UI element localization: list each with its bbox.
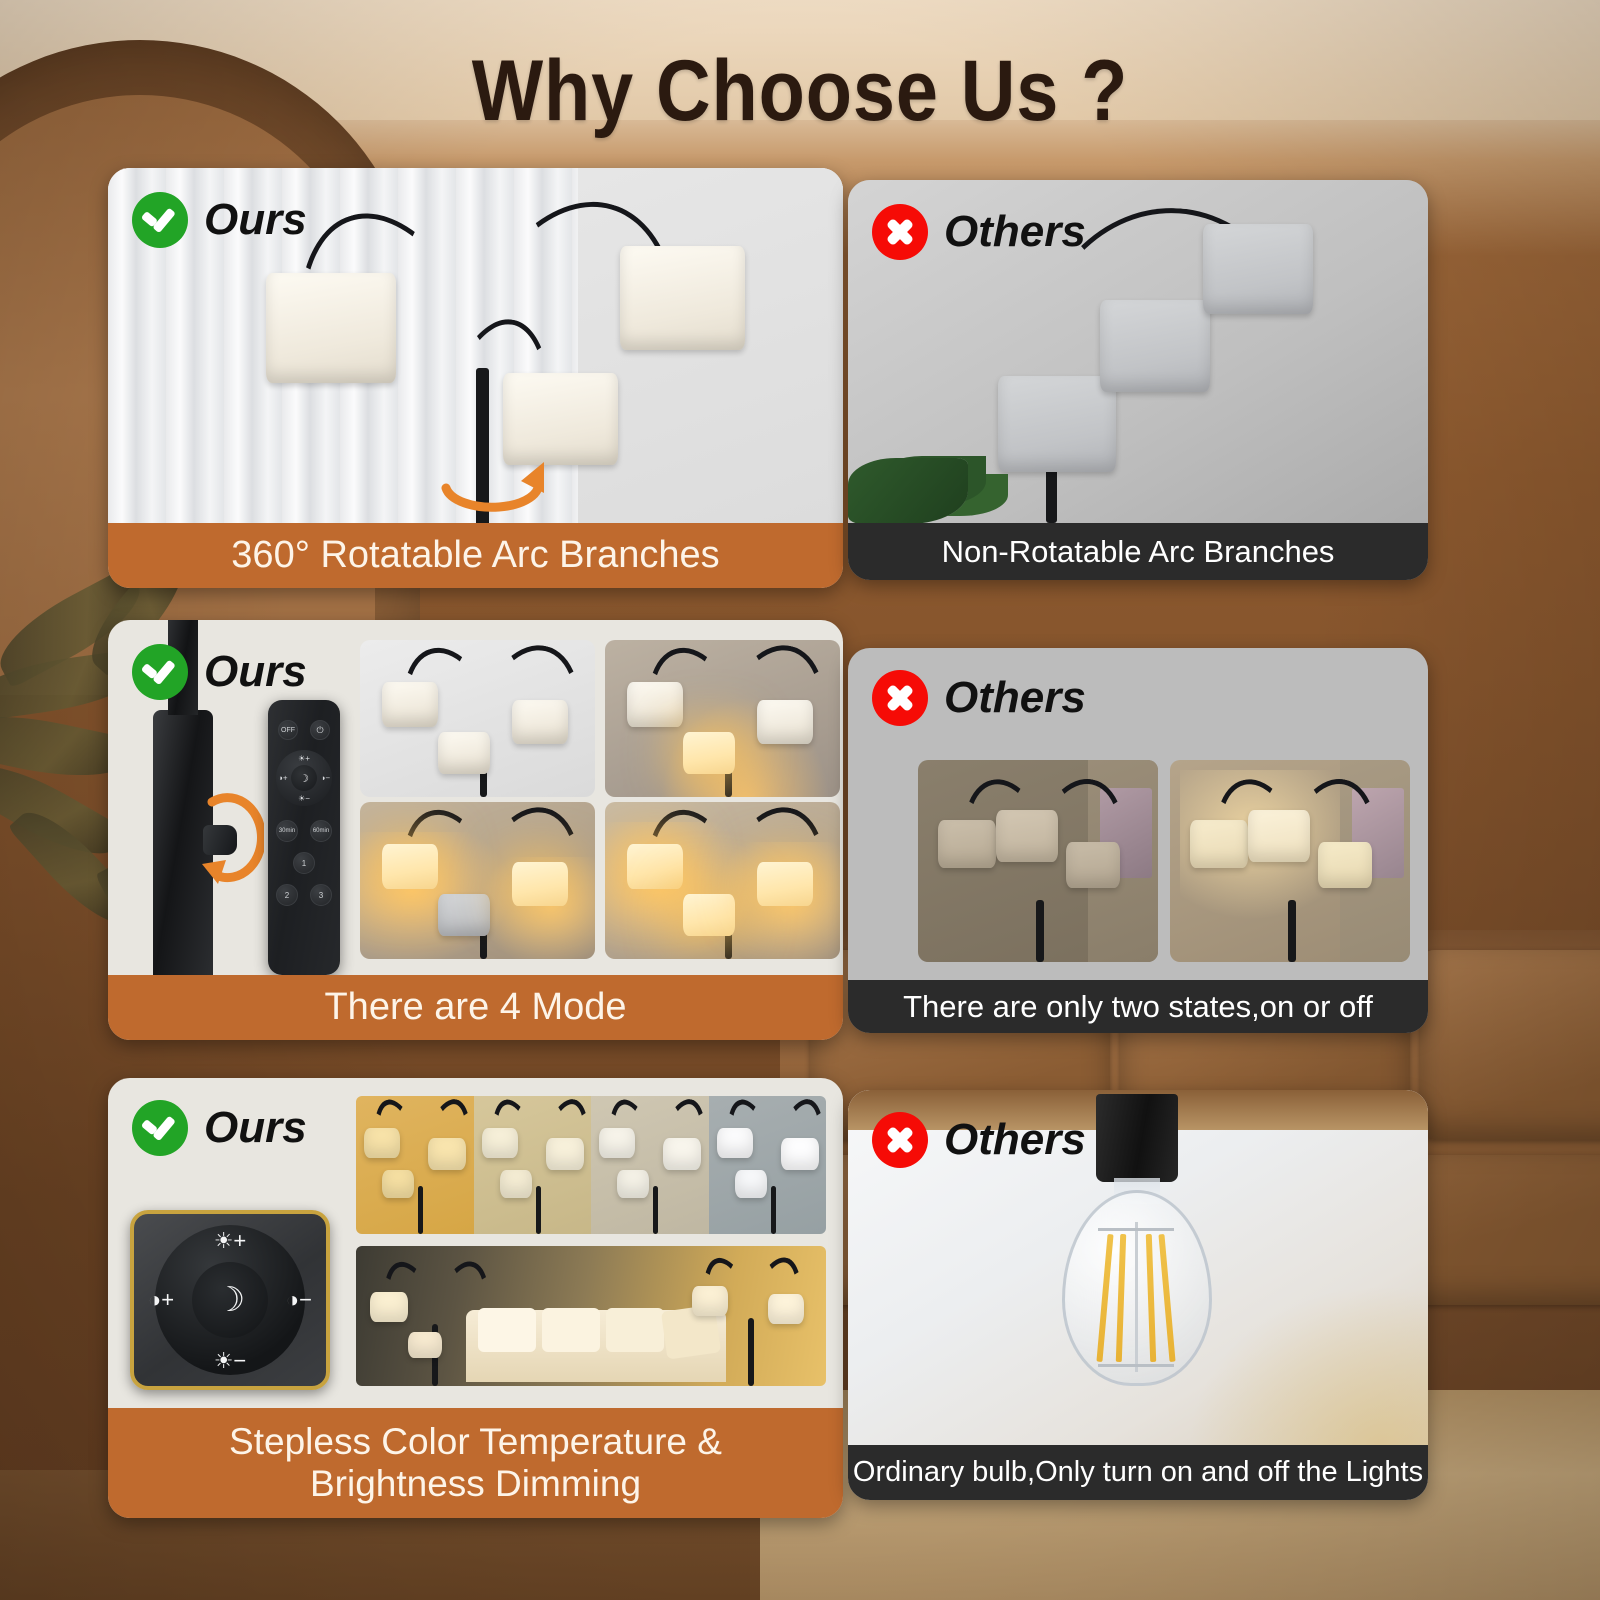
color-warm-control[interactable]: ◑+	[148, 1287, 174, 1313]
bulb-socket	[1096, 1094, 1178, 1182]
dimmer-ring[interactable]: ☀+ ◑+ ◑− ☀− ☽	[276, 750, 332, 806]
caption-text: Non-Rotatable Arc Branches	[942, 535, 1335, 568]
dimmer-control-pad[interactable]: ☀+ ◑+ ◑− ☀− ☽	[130, 1210, 330, 1390]
green-check-icon	[132, 192, 188, 248]
badge-ours-modes: Ours	[132, 644, 307, 700]
light-1-button[interactable]: 1	[293, 852, 315, 874]
badge-label: Others	[944, 673, 1086, 723]
timer-60min-button[interactable]: 60min	[310, 820, 332, 842]
filament-stem	[1135, 1222, 1138, 1372]
night-light-control[interactable]: ☽	[192, 1262, 268, 1338]
mode-two-lights	[360, 802, 595, 959]
color-cool-button[interactable]: ◑−	[320, 774, 330, 783]
red-cross-icon	[872, 670, 928, 726]
brightness-down-control[interactable]: ☀−	[214, 1348, 247, 1374]
color-temperature-strip	[356, 1096, 826, 1234]
badge-label: Ours	[204, 647, 307, 697]
caption-others-rotation: Non-Rotatable Arc Branches	[848, 523, 1428, 580]
night-mode-button[interactable]: ☽	[291, 765, 317, 791]
rotation-arrow-icon	[426, 448, 556, 523]
light-3-button[interactable]: 3	[310, 884, 332, 906]
caption-ours-modes: There are 4 Mode	[108, 975, 843, 1040]
caption-ours-dimming: Stepless Color Temperature & Brightness …	[108, 1408, 843, 1518]
ct-soft-3500k	[474, 1096, 592, 1234]
color-cool-control[interactable]: ◑−	[286, 1287, 312, 1313]
card-ours-dimming: ☀+ ◑+ ◑− ☀− ☽	[108, 1078, 843, 1518]
caption-line-2: Brightness Dimming	[310, 1464, 641, 1504]
brightness-up-control[interactable]: ☀+	[214, 1228, 247, 1254]
brightness-up-button[interactable]: ☀+	[298, 754, 310, 763]
timing-button[interactable]: OFF	[278, 720, 298, 740]
card-others-rotation: Non-Rotatable Arc Branches Others	[848, 180, 1428, 580]
caption-text: There are 4 Mode	[324, 987, 626, 1028]
state-off	[918, 760, 1158, 962]
mode-three-lights	[605, 802, 840, 959]
lamp-shade-low	[998, 376, 1116, 472]
lamp-shade-high	[1203, 224, 1313, 314]
red-cross-icon	[872, 1112, 928, 1168]
red-cross-icon	[872, 204, 928, 260]
power-button-label: ⏻	[316, 725, 323, 736]
badge-label: Others	[944, 1115, 1086, 1165]
lamp-shade-mid	[1100, 300, 1210, 392]
badge-label: Ours	[204, 195, 307, 245]
rotation-arrow-icon	[200, 788, 264, 894]
ct-warm-2700k	[356, 1096, 474, 1234]
green-check-icon	[132, 644, 188, 700]
light-2-button[interactable]: 2	[276, 884, 298, 906]
ct-neutral-4500k	[591, 1096, 709, 1234]
mode-all-off	[360, 640, 595, 797]
mode-one-light	[605, 640, 840, 797]
timer-30min-button[interactable]: 30min	[276, 820, 298, 842]
caption-others-modes: There are only two states,on or off	[848, 980, 1428, 1033]
ct-cool-6000k	[709, 1096, 827, 1234]
caption-line-1: Stepless Color Temperature &	[229, 1422, 722, 1462]
filament-bridge-top	[1098, 1228, 1174, 1231]
badge-others-modes: Others	[872, 670, 1086, 726]
badge-others-bulb: Others	[872, 1112, 1086, 1168]
caption-text: 360° Rotatable Arc Branches	[231, 535, 719, 576]
lamp-shade-right	[620, 246, 745, 350]
card-ours-modes: OFF ⏻ ☀+ ◑+ ◑− ☀− ☽	[108, 620, 843, 1040]
caption-text: Ordinary bulb,Only turn on and off the L…	[853, 1457, 1423, 1488]
caption-others-bulb: Ordinary bulb,Only turn on and off the L…	[848, 1445, 1428, 1500]
badge-ours-rotation: Ours	[132, 192, 307, 248]
lamp-shade-left	[266, 273, 396, 383]
badge-others-rotation: Others	[872, 204, 1086, 260]
remote-control[interactable]: OFF ⏻ ☀+ ◑+ ◑− ☀− ☽	[268, 700, 340, 975]
state-on	[1170, 760, 1410, 962]
caption-text: There are only two states,on or off	[903, 990, 1373, 1023]
card-others-bulb: Ordinary bulb,Only turn on and off the L…	[848, 1090, 1428, 1500]
living-room-preview	[356, 1246, 826, 1386]
page-title: Why Choose Us ?	[96, 42, 1504, 141]
caption-ours-rotation: 360° Rotatable Arc Branches	[108, 523, 843, 588]
card-others-modes: There are only two states,on or off Othe…	[848, 648, 1428, 1033]
badge-ours-dimming: Ours	[132, 1100, 307, 1156]
timing-button-label: OFF	[281, 727, 295, 734]
green-check-icon	[132, 1100, 188, 1156]
power-button[interactable]: ⏻	[310, 720, 330, 740]
badge-label: Ours	[204, 1103, 307, 1153]
brightness-down-button[interactable]: ☀−	[298, 794, 310, 803]
color-warm-button[interactable]: ◑+	[278, 774, 288, 783]
card-ours-rotation: 360° Rotatable Arc Branches Ours	[108, 168, 843, 588]
badge-label: Others	[944, 207, 1086, 257]
potted-plant	[848, 458, 968, 523]
filament-bridge-bottom	[1098, 1364, 1174, 1367]
